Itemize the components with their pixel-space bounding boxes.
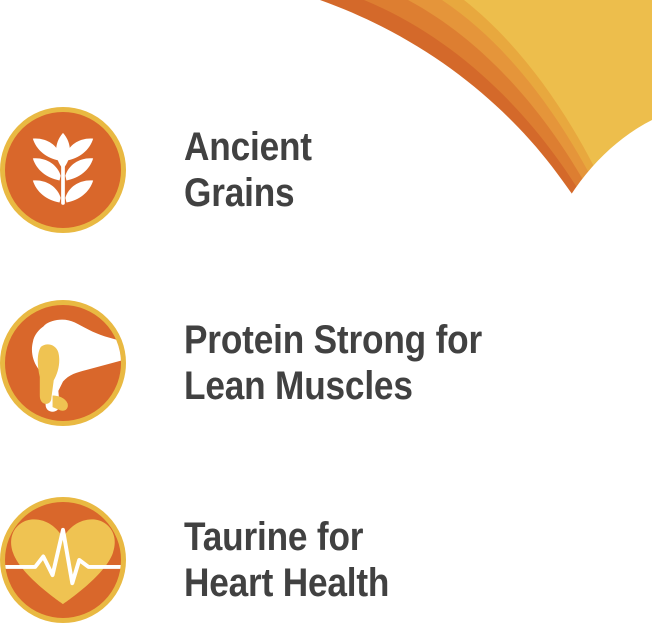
badge-taurine-heart bbox=[0, 497, 126, 623]
badge-ancient-grains bbox=[0, 107, 126, 233]
heart-ekg-icon bbox=[5, 502, 121, 618]
feature-list-graphic: Ancient Grains Protein Strong for Lean M… bbox=[0, 0, 652, 640]
feature-label: Protein Strong for Lean Muscles bbox=[184, 317, 482, 409]
feature-label: Ancient Grains bbox=[184, 124, 312, 216]
feature-row: Protein Strong for Lean Muscles bbox=[0, 300, 560, 426]
wheat-grain-icon bbox=[5, 112, 121, 228]
badge-protein-strong bbox=[0, 300, 126, 426]
dog-muscle-icon bbox=[5, 305, 121, 421]
feature-label: Taurine for Heart Health bbox=[184, 514, 389, 606]
feature-row: Ancient Grains bbox=[0, 107, 560, 233]
feature-row: Taurine for Heart Health bbox=[0, 497, 560, 623]
